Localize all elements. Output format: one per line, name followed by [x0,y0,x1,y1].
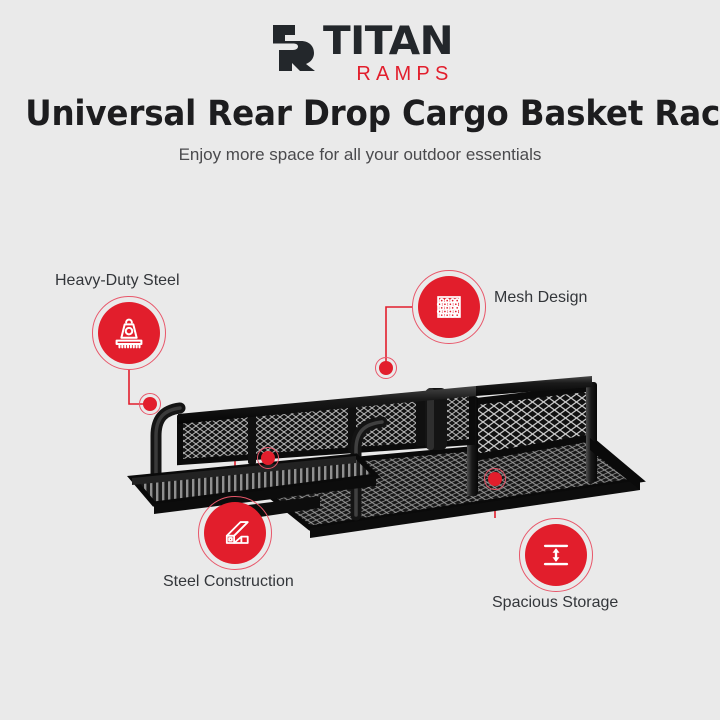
feature-label-mesh-design: Mesh Design [494,289,587,307]
feature-badge-mesh-design[interactable] [412,270,486,344]
feature-label-heavy-duty-steel: Heavy-Duty Steel [55,272,180,290]
feature-badge-spacious-storage[interactable] [519,518,593,592]
vertical-double-arrow-icon [536,535,576,575]
mesh-grid-icon [429,287,469,327]
feature-badge-heavy-duty-steel[interactable] [92,296,166,370]
callout-dot-spacious-storage [484,468,506,490]
page-title: Universal Rear Drop Cargo Basket Rack [25,94,695,134]
feature-label-steel-construction: Steel Construction [163,573,294,591]
logo-titan-text: TITAN [323,22,453,61]
feature-badge-steel-construction[interactable] [198,496,272,570]
page-subtitle: Enjoy more space for all your outdoor es… [0,145,720,165]
brand-logo: TITAN RAMPS [0,22,720,84]
steel-beam-icon [215,513,255,553]
callout-dot-mesh-design [375,357,397,379]
infographic-page: TITAN RAMPS Universal Rear Drop Cargo Ba… [0,0,720,720]
callout-dot-steel-construction [257,447,279,469]
logo-ramps-text: RAMPS [356,64,453,84]
feature-label-spacious-storage: Spacious Storage [492,594,618,612]
callout-dot-heavy-duty-steel [139,393,161,415]
weight-on-platform-icon [108,312,150,354]
titan-r-icon [271,23,317,71]
